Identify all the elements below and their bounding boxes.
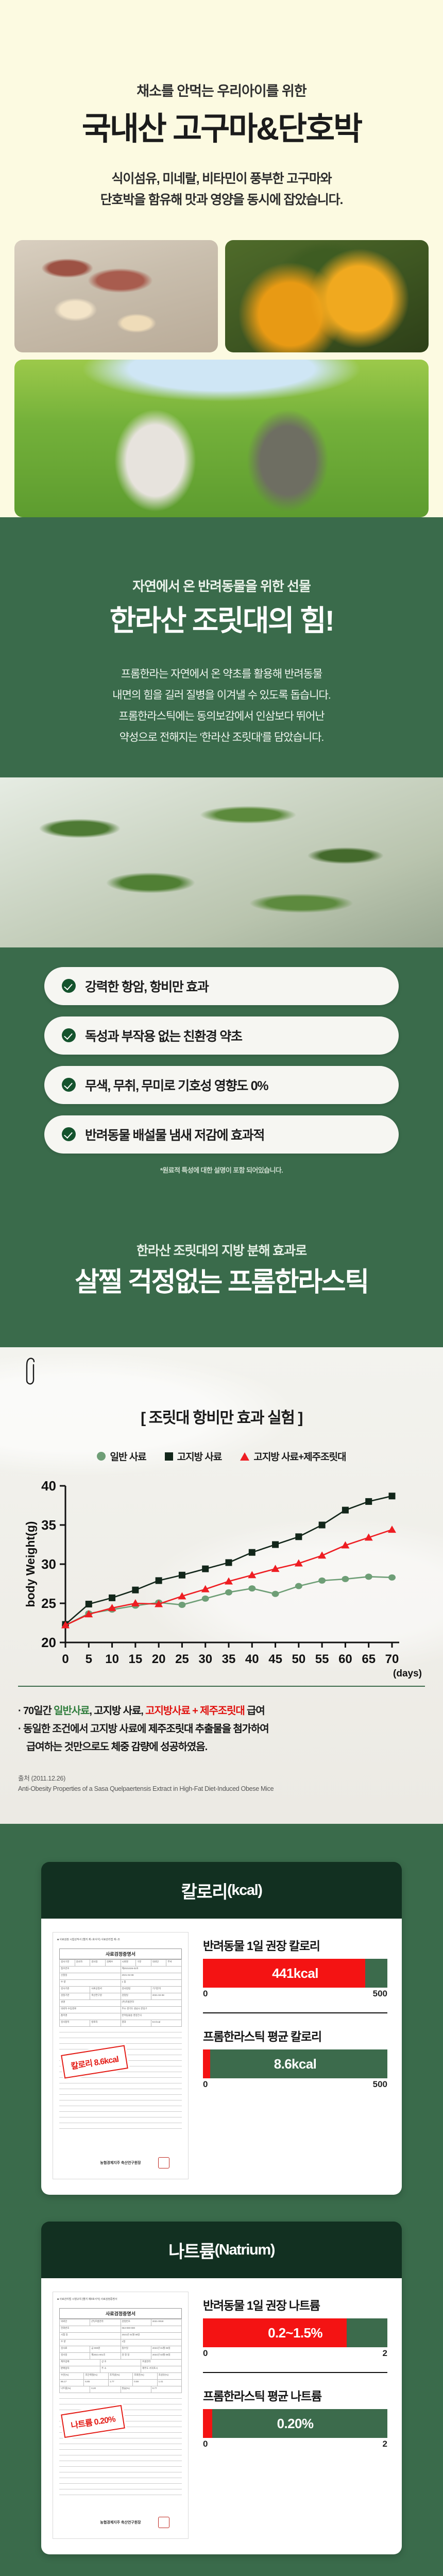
- feed-certificate-thumbnail: ■ 사료관리법 시행규칙 [별지 제8호서식] 사료검정증명서 사료검정증명서 …: [53, 2292, 189, 2539]
- hero-subtitle-line1: 식이섬유, 미네랄, 비타민이 풍부한 고구마와: [0, 168, 443, 190]
- table-row: 접수번호제2021026-02호: [60, 1967, 181, 1973]
- line-chart-svg: 2025303540body Weight(g)0510152025303540…: [18, 1472, 425, 1679]
- chart-x-unit-label: (days): [393, 1668, 422, 1680]
- bar-scale-product: 0 2: [203, 2439, 387, 2449]
- hero-subtitle: 식이섬유, 미네랄, 비타민이 풍부한 고구마와 단호박을 함유해 맛과 영양을…: [0, 168, 443, 210]
- chart-source-title: Anti-Obesity Properties of a Sasa Quelpa…: [18, 1784, 425, 1794]
- chart-note: · 70일간 일반사료, 고지방 사료, 고지방사료 + 제주조릿대 급여: [18, 1702, 425, 1720]
- bar-divider: [203, 2012, 387, 2013]
- calorie-bars: 반려동물 1일 권장 칼로리 441kcal 0 500 프롬한라스틱 평균 칼…: [198, 1932, 390, 2179]
- list-item: 강력한 항암, 항비만 효과: [44, 967, 399, 1005]
- svg-text:45: 45: [268, 1652, 282, 1666]
- checklist-label: 독성과 부작용 없는 친환경 약초: [85, 1026, 242, 1045]
- red-seal-icon: [158, 2517, 169, 2528]
- cert-thumb-lines: [59, 2027, 182, 2129]
- check-circle-icon: [62, 1078, 76, 1092]
- fat-eyebrow: 한라산 조릿대의 지방 분해 효과로: [0, 1241, 443, 1259]
- svg-text:15: 15: [129, 1652, 143, 1666]
- nutrition-card-header: 나트륨 (Natrium): [41, 2222, 402, 2278]
- nutrition-heading: 나트륨: [168, 2238, 215, 2263]
- table-row: 제조업체상 호프롬한라: [60, 2360, 181, 2366]
- svg-text:20: 20: [41, 1635, 56, 1650]
- legend-circle-icon: [97, 1452, 106, 1461]
- svg-text:40: 40: [245, 1652, 259, 1666]
- nutrition-heading: 칼로리: [181, 1878, 228, 1903]
- farmers-photo: [14, 360, 429, 517]
- hero-photo-row: [0, 210, 443, 352]
- intro-title: 한라산 조릿대의 힘!: [0, 605, 443, 637]
- svg-text:25: 25: [175, 1652, 189, 1666]
- table-row: 성명(주)프롬한라: [60, 2000, 181, 2007]
- table-row: 판매업자주 소제주도 서귀포시: [60, 2366, 181, 2373]
- bar-label-product: 프롬한라스틱 평균 나트륨: [203, 2386, 387, 2404]
- scale-min: 0: [203, 2348, 208, 2359]
- cert-thumb-table: 검사구분검사자검사일검체수시료명구분의뢰인부서 접수번호제2021026-02호…: [59, 1959, 182, 2027]
- bar-value: 0.2~1.5%: [203, 2318, 387, 2347]
- intro-footnote: *원료적 특성에 대한 설명이 포함 되어있습니다.: [0, 1165, 443, 1175]
- sweet-potato-photo: [14, 240, 218, 352]
- cert-thumb-title: 사료검정증명서: [59, 1948, 182, 1959]
- cert-thumb-title: 사료검정증명서: [59, 2308, 182, 2319]
- checklist-label: 강력한 항암, 항비만 효과: [85, 977, 209, 995]
- hero-section: 채소를 안먹는 우리아이를 위한 국내산 고구마&단호박 식이섬유, 미네랄, …: [0, 0, 443, 517]
- hero-subtitle-line2: 단호박을 함유해 맛과 영양을 동시에 잡았습니다.: [0, 190, 443, 211]
- legend-triangle-icon: [240, 1452, 249, 1461]
- checklist-label: 반려동물 배설물 냄새 저감에 효과적: [85, 1125, 264, 1144]
- check-circle-icon: [62, 1127, 76, 1141]
- list-item: 무색, 무취, 무미로 기호성 영향도 0%: [44, 1066, 399, 1104]
- check-circle-icon: [62, 1028, 76, 1042]
- legend-item-highfat-bamboo: 고지방 사료+제주조릿대: [240, 1449, 346, 1463]
- nutrition-card-body: ■ 사료관리법 시행규칙 [별지 제8호서식] 사료검정증명서 사료검정증명서 …: [41, 2278, 402, 2554]
- checklist-label: 무색, 무취, 무미로 기호성 영향도 0%: [85, 1076, 268, 1094]
- svg-text:65: 65: [362, 1652, 376, 1666]
- svg-text:30: 30: [198, 1652, 212, 1666]
- nutrition-card-body: ■ 사료검정 시험성적서 (별지 제○호서식) 사료관리법 제○조 사료검정증명…: [41, 1919, 402, 2195]
- cert-thumb-note: ■ 사료검정 시험성적서 (별지 제○호서식) 사료관리법 제○조: [57, 1938, 184, 1941]
- chart-plot-area: 2025303540body Weight(g)0510152025303540…: [18, 1472, 425, 1679]
- svg-text:20: 20: [152, 1652, 166, 1666]
- legend-item-highfat-feed: 고지방 사료: [165, 1449, 222, 1463]
- svg-text:5: 5: [86, 1652, 92, 1666]
- chart-divider: [18, 1686, 425, 1687]
- feed-certificate-thumbnail: ■ 사료검정 시험성적서 (별지 제○호서식) 사료관리법 제○조 사료검정증명…: [53, 1932, 189, 2179]
- bar-track-recommended: 441kcal: [203, 1959, 387, 1988]
- svg-text:35: 35: [41, 1517, 56, 1533]
- bar-label-recommended: 반려동물 1일 권장 나트륨: [203, 2296, 387, 2313]
- list-item: 독성과 부작용 없는 친환경 약초: [44, 1016, 399, 1055]
- scale-max: 2: [383, 2348, 387, 2359]
- bar-label-recommended: 반려동물 1일 권장 칼로리: [203, 1936, 387, 1954]
- bar-value: 0.20%: [203, 2409, 387, 2438]
- scale-max: 2: [383, 2439, 387, 2449]
- hallasan-intro-section: 자연에서 온 반려동물을 위한 선물 한라산 조릿대의 힘! 프롬한라는 자연에…: [0, 517, 443, 1347]
- table-row: 나트륨(%)0.20칼슘(%)0.77: [60, 2386, 181, 2393]
- table-row: 시험 일2021년 01월 08일: [60, 2333, 181, 2340]
- intro-body: 프롬한라는 자연에서 온 약초를 활용해 반려동물 내면의 힘을 길러 질병을 …: [0, 664, 443, 749]
- table-row: 신청일2021-02-08: [60, 1973, 181, 1980]
- fat-burn-headline: 한라산 조릿대의 지방 분해 효과로 살찔 걱정없는 프롬한라스틱: [0, 1175, 443, 1298]
- chart-source-label: 출처 (2011.12.26): [18, 1774, 425, 1784]
- legend-label: 일반 사료: [110, 1449, 146, 1463]
- chart-note: 급여하는 것만으로도 체중 감량에 성공하였음.: [18, 1738, 425, 1756]
- table-row: 의뢰자 수입경로주소 경기도 성남시 분당구: [60, 2007, 181, 2013]
- list-item: 반려동물 배설물 냄새 저감에 효과적: [44, 1115, 399, 1154]
- bar-scale-recommended: 0 500: [203, 1989, 387, 1999]
- svg-text:50: 50: [292, 1652, 306, 1666]
- table-row: 검사료금 000원접수일2021년 01월 08일: [60, 2346, 181, 2353]
- intro-body-line4: 약성으로 전해지는 '한라산 조릿대'를 담았습니다.: [21, 727, 422, 749]
- bar-label-product: 프롬한라스틱 평균 칼로리: [203, 2027, 387, 2044]
- svg-text:70: 70: [385, 1652, 399, 1666]
- legend-square-icon: [165, 1452, 173, 1461]
- chart-source: 출처 (2011.12.26) Anti-Obesity Properties …: [18, 1774, 425, 1794]
- table-row: 수 량1점: [60, 2340, 181, 2346]
- cert-thumb-table: 의뢰인(주)프롬한라검정번호2021-0018 전화번호064-000-000 …: [59, 2319, 182, 2393]
- nutrition-heading-unit: (kcal): [227, 1882, 262, 1899]
- legend-item-normal-feed: 일반 사료: [97, 1449, 146, 1463]
- scale-min: 0: [203, 2079, 208, 2090]
- svg-text:60: 60: [338, 1652, 352, 1666]
- svg-text:25: 25: [41, 1596, 56, 1611]
- intro-body-line1: 프롬한라는 자연에서 온 약초를 활용해 반려동물: [21, 664, 422, 685]
- svg-text:30: 30: [41, 1556, 56, 1572]
- chart-notes: · 70일간 일반사료, 고지방 사료, 고지방사료 + 제주조릿대 급여 · …: [18, 1702, 425, 1756]
- svg-text:55: 55: [315, 1652, 329, 1666]
- svg-text:35: 35: [222, 1652, 236, 1666]
- scale-max: 500: [373, 2079, 387, 2090]
- bar-divider: [203, 2372, 387, 2373]
- intro-body-line2: 내면의 힘을 길러 질병을 이겨낼 수 있도록 돕습니다.: [21, 685, 422, 706]
- table-row: 의뢰인(주)프롬한라검정번호2021-0018: [60, 2319, 181, 2326]
- bar-track-product: 8.6kcal: [203, 2049, 387, 2078]
- table-row: 검사일제2021-001호검 정 일2021년 02월 08일: [60, 2353, 181, 2360]
- nutrition-card-calorie: 칼로리 (kcal) ■ 사료검정 시험성적서 (별지 제○호서식) 사료관리법…: [41, 1862, 402, 2195]
- bar-value: 8.6kcal: [203, 2049, 387, 2078]
- table-row: 검정기관축산연구원검정일2021-02-08: [60, 1993, 181, 2000]
- legend-label: 고지방 사료+제주조릿대: [253, 1449, 346, 1463]
- scale-max: 500: [373, 1989, 387, 1999]
- pumpkin-photo: [225, 240, 429, 352]
- svg-text:0: 0: [62, 1652, 69, 1666]
- fat-title: 살찔 걱정없는 프롬한라스틱: [0, 1267, 443, 1298]
- table-row: 품목명반려동물용 영양간식: [60, 2013, 181, 2020]
- nutrition-card-header: 칼로리 (kcal): [41, 1862, 402, 1919]
- table-row: 86.176.851.770.591.41: [60, 2380, 181, 2386]
- red-seal-icon: [158, 2157, 169, 2168]
- experiment-chart-section: [ 조릿대 항비만 효과 실험 ] 일반 사료 고지방 사료 고지방 사료+제주…: [0, 1347, 443, 1824]
- bar-track-recommended: 0.2~1.5%: [203, 2318, 387, 2347]
- svg-text:body Weight(g): body Weight(g): [24, 1521, 37, 1607]
- chart-legend: 일반 사료 고지방 사료 고지방 사료+제주조릿대: [0, 1449, 443, 1463]
- scale-min: 0: [203, 1989, 208, 1999]
- cert-thumb-note: ■ 사료관리법 시행규칙 [별지 제8호서식] 사료검정증명서: [57, 2297, 184, 2301]
- svg-text:40: 40: [41, 1478, 56, 1494]
- intro-body-line3: 프롬한라스틱에는 동의보감에서 인삼보다 뛰어난: [21, 706, 422, 727]
- paperclip-icon: [23, 1357, 38, 1388]
- nutrition-section: 칼로리 (kcal) ■ 사료검정 시험성적서 (별지 제○호서식) 사료관리법…: [0, 1824, 443, 2576]
- bar-scale-product: 0 500: [203, 2079, 387, 2090]
- natrium-bars: 반려동물 1일 권장 나트륨 0.2~1.5% 0 2 프롬한라스틱 평균 나트…: [198, 2292, 390, 2539]
- table-row: 검사구분검사자검사일검체수시료명구분의뢰인부서: [60, 1960, 181, 1967]
- table-row: 검사항목칼로리결과8.6 kcal: [60, 2020, 181, 2027]
- bar-track-product: 0.20%: [203, 2409, 387, 2438]
- benefit-checklist: 강력한 항암, 항비만 효과 독성과 부작용 없는 친환경 약초 무색, 무취,…: [0, 947, 443, 1154]
- table-row: 수 량1 점: [60, 1980, 181, 1987]
- intro-eyebrow: 자연에서 온 반려동물을 위한 선물: [0, 578, 443, 596]
- svg-text:10: 10: [105, 1652, 119, 1666]
- hero-title: 국내산 고구마&단호박: [0, 112, 443, 147]
- chart-note: · 동일한 조건에서 고지방 사료에 제주조릿대 추출물을 첨가하여: [18, 1720, 425, 1738]
- table-row: 검사기준사료공정서검사방법기기분석: [60, 1987, 181, 1993]
- nutrition-card-natrium: 나트륨 (Natrium) ■ 사료관리법 시행규칙 [별지 제8호서식] 사료…: [41, 2222, 402, 2554]
- hero-eyebrow: 채소를 안먹는 우리아이를 위한: [0, 82, 443, 100]
- check-circle-icon: [62, 979, 76, 993]
- legend-label: 고지방 사료: [177, 1449, 222, 1463]
- bar-value: 441kcal: [203, 1959, 387, 1988]
- product-detail-page: 채소를 안먹는 우리아이를 위한 국내산 고구마&단호박 식이섬유, 미네랄, …: [0, 0, 443, 2576]
- scale-min: 0: [203, 2439, 208, 2449]
- chart-title: [ 조릿대 항비만 효과 실험 ]: [0, 1347, 443, 1428]
- bamboo-snow-photo: [0, 777, 443, 947]
- nutrition-heading-unit: (Natrium): [215, 2242, 275, 2259]
- bar-scale-recommended: 0 2: [203, 2348, 387, 2359]
- table-row: 수분(%)조단백질(%)조지방(%)조회분(%)조섬유(%): [60, 2373, 181, 2380]
- table-row: 전화번호064-000-000: [60, 2326, 181, 2333]
